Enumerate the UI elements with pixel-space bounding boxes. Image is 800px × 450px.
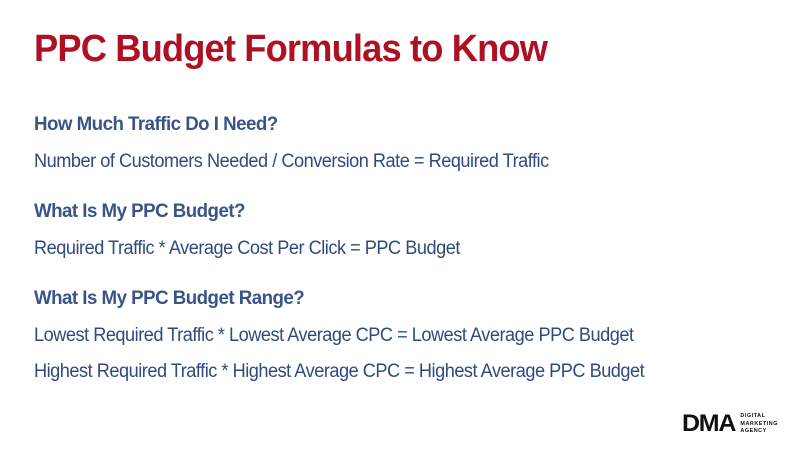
section-traffic: How Much Traffic Do I Need? Number of Cu…	[34, 112, 764, 177]
logo-tagline-line-2: MARKETING	[740, 421, 778, 428]
section-budget: What Is My PPC Budget? Required Traffic …	[34, 199, 764, 264]
formula-line: Number of Customers Needed / Conversion …	[34, 146, 731, 177]
logo-tagline-line-1: DIGITAL	[740, 413, 778, 420]
logo-wordmark: DMA	[682, 412, 735, 436]
section-heading-budget-range: What Is My PPC Budget Range?	[34, 286, 735, 311]
formula-sections: How Much Traffic Do I Need? Number of Cu…	[34, 112, 764, 387]
section-heading-budget: What Is My PPC Budget?	[34, 199, 735, 224]
section-heading-traffic: How Much Traffic Do I Need?	[34, 112, 735, 137]
page-title: PPC Budget Formulas to Know	[34, 26, 547, 72]
logo-tagline-line-3: AGENCY	[740, 428, 778, 435]
section-budget-range: What Is My PPC Budget Range? Lowest Requ…	[34, 286, 764, 387]
slide-canvas: PPC Budget Formulas to Know How Much Tra…	[0, 0, 800, 450]
dma-logo: DMA DIGITAL MARKETING AGENCY	[682, 412, 778, 436]
formula-line: Required Traffic * Average Cost Per Clic…	[34, 233, 731, 264]
formula-line: Highest Required Traffic * Highest Avera…	[34, 356, 731, 387]
logo-tagline: DIGITAL MARKETING AGENCY	[740, 412, 778, 435]
formula-line: Lowest Required Traffic * Lowest Average…	[34, 320, 731, 351]
